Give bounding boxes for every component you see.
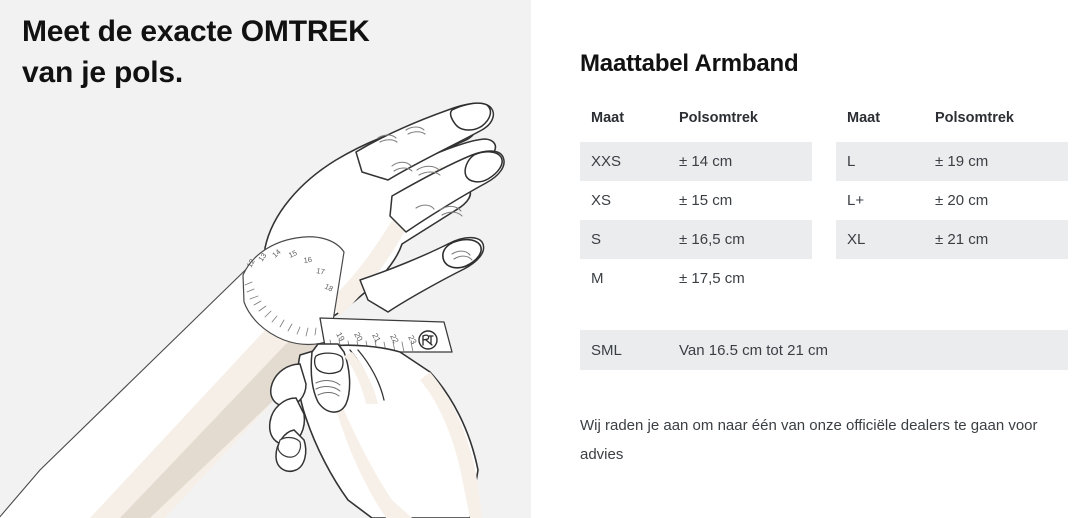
table-row: XL ± 21 cm [836,220,1068,259]
cell-circumference: ± 15 cm [668,181,812,220]
size-tables-container: Maat Polsomtrek XXS ± 14 cm XS ± 15 cm S [580,110,1068,298]
table-row: XS ± 15 cm [580,181,812,220]
table-row: L ± 19 cm [836,142,1068,181]
cell-circumference: ± 14 cm [668,142,812,181]
table-row-spacer [836,259,1068,298]
cell-empty [924,259,1068,298]
hands-measuring-wrist-illustration: 12 13 14 15 16 17 18 [0,0,531,518]
table-row: SML Van 16.5 cm tot 21 cm [580,330,1068,370]
cell-size: L [836,142,924,181]
cell-empty [836,259,924,298]
size-guide-page: Meet de exacte OMTREKvan je pols. [0,0,1080,518]
cell-size: S [580,220,668,259]
column-header-circumference: Polsomtrek [668,110,812,142]
size-chart-panel: Maattabel Armband Maat Polsomtrek XXS ± … [531,0,1080,518]
cell-circumference: ± 16,5 cm [668,220,812,259]
cell-size: XXS [580,142,668,181]
size-table-small: Maat Polsomtrek XXS ± 14 cm XS ± 15 cm S [580,110,812,298]
cell-circumference: ± 17,5 cm [668,259,812,298]
column-header-size: Maat [836,110,924,142]
sml-range-table: SML Van 16.5 cm tot 21 cm [580,330,1068,370]
column-header-size: Maat [580,110,668,142]
cell-size: L+ [836,181,924,220]
column-header-circumference: Polsomtrek [924,110,1068,142]
svg-text:16: 16 [303,255,313,265]
size-table-large: Maat Polsomtrek L ± 19 cm L+ ± 20 cm XL [836,110,1068,298]
cell-size: M [580,259,668,298]
table-row: S ± 16,5 cm [580,220,812,259]
size-chart-title: Maattabel Armband [580,50,798,78]
table-row: M ± 17,5 cm [580,259,812,298]
table-row: L+ ± 20 cm [836,181,1068,220]
table-header-row: Maat Polsomtrek [836,110,1068,142]
illustration-panel: Meet de exacte OMTREKvan je pols. [0,0,531,518]
cell-circumference: ± 20 cm [924,181,1068,220]
svg-text:17: 17 [316,266,326,276]
cell-circumference: ± 19 cm [924,142,1068,181]
table-header-row: Maat Polsomtrek [580,110,812,142]
cell-size: XS [580,181,668,220]
cell-circumference: Van 16.5 cm tot 21 cm [668,330,1068,370]
cell-size: SML [580,330,668,370]
table-row: XXS ± 14 cm [580,142,812,181]
cell-circumference: ± 21 cm [924,220,1068,259]
dealer-advice-note: Wij raden je aan om naar één van onze of… [580,411,1070,469]
cell-size: XL [836,220,924,259]
